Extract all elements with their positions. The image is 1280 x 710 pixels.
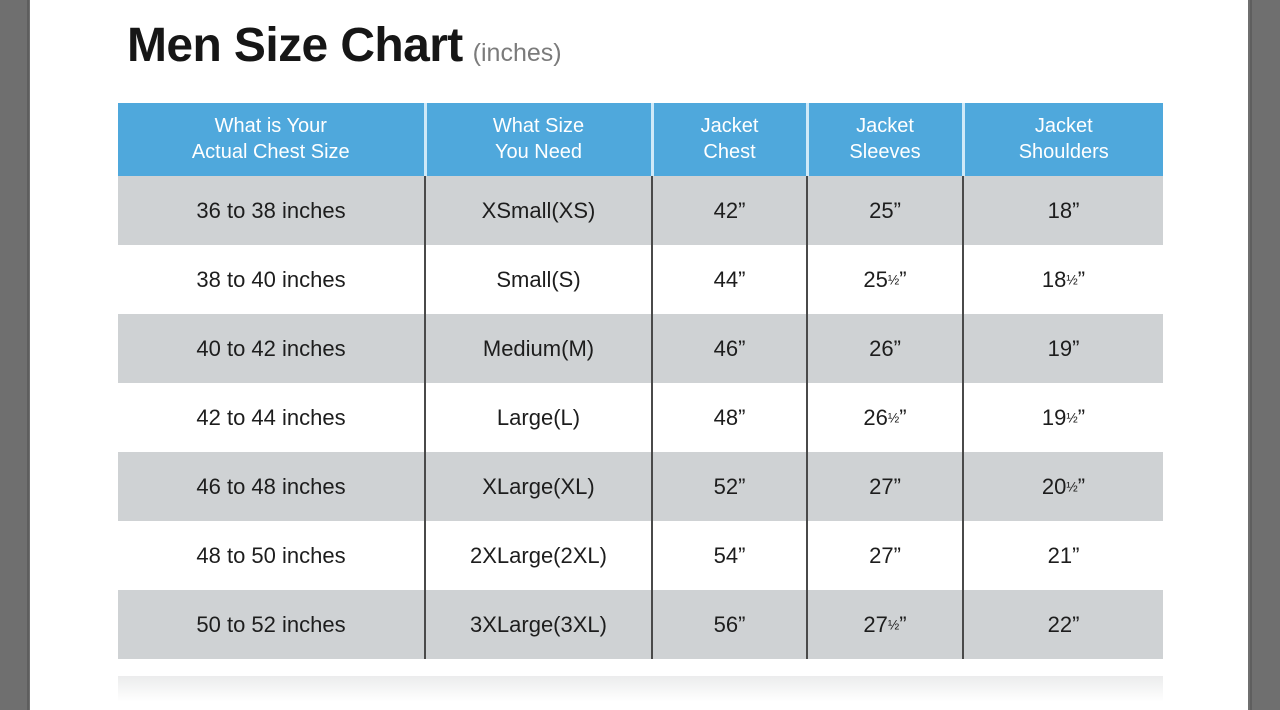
table-cell-r6-c0: 50 to 52 inches [118, 590, 425, 659]
table-cell-r5-c2: 54” [652, 521, 807, 590]
table-cell-r0-c4: 18” [963, 176, 1163, 245]
inch-mark: ” [738, 267, 745, 292]
inch-mark: ” [738, 474, 745, 499]
inch-mark: ” [738, 543, 745, 568]
page-title: Men Size Chart (inches) [127, 22, 562, 70]
inch-mark: ” [1072, 543, 1079, 568]
column-header-4: JacketShoulders [963, 103, 1163, 176]
fraction-half: ½ [888, 272, 899, 287]
column-header-line2: You Need [433, 140, 645, 166]
column-header-line2: Actual Chest Size [124, 140, 418, 166]
fraction-half: ½ [888, 410, 899, 425]
table-cell-r4-c1: XLarge(XL) [425, 452, 652, 521]
table-cell-r2-c2: 46” [652, 314, 807, 383]
table-cell-r0-c1: XSmall(XS) [425, 176, 652, 245]
column-header-2: JacketChest [652, 103, 807, 176]
header-row: What is YourActual Chest SizeWhat SizeYo… [118, 103, 1163, 176]
table-cell-r1-c1: Small(S) [425, 245, 652, 314]
column-header-line2: Chest [660, 140, 800, 166]
table-row: 38 to 40 inchesSmall(S)44”25½”18½” [118, 245, 1163, 314]
letterbox-right-seam [1250, 0, 1252, 710]
table-row: 36 to 38 inchesXSmall(XS)42”25”18” [118, 176, 1163, 245]
column-header-1: What SizeYou Need [425, 103, 652, 176]
table-cell-r0-c0: 36 to 38 inches [118, 176, 425, 245]
table-cell-r1-c4: 18½” [963, 245, 1163, 314]
slide-content: Men Size Chart (inches) What is YourActu… [30, 0, 1248, 710]
table-cell-r6-c4: 22” [963, 590, 1163, 659]
table-cell-r1-c3: 25½” [807, 245, 963, 314]
inch-mark: ” [738, 198, 745, 223]
inch-mark: ” [1072, 198, 1079, 223]
table-cell-r0-c3: 25” [807, 176, 963, 245]
inch-mark: ” [1072, 612, 1079, 637]
table-body: 36 to 38 inchesXSmall(XS)42”25”18”38 to … [118, 176, 1163, 659]
fraction-half: ½ [1066, 479, 1077, 494]
size-chart-table: What is YourActual Chest SizeWhat SizeYo… [118, 103, 1163, 659]
table-row: 48 to 50 inches2XLarge(2XL)54”27”21” [118, 521, 1163, 590]
column-header-line2: Sleeves [815, 140, 956, 166]
table-shadow-artifact [118, 676, 1163, 702]
column-header-line1: Jacket [660, 114, 800, 140]
fraction-half: ½ [1066, 410, 1077, 425]
table-cell-r4-c2: 52” [652, 452, 807, 521]
inch-mark: ” [894, 543, 901, 568]
inch-mark: ” [738, 612, 745, 637]
column-header-3: JacketSleeves [807, 103, 963, 176]
table-cell-r5-c3: 27” [807, 521, 963, 590]
table-header: What is YourActual Chest SizeWhat SizeYo… [118, 103, 1163, 176]
letterbox-left [0, 0, 30, 710]
table-cell-r3-c1: Large(L) [425, 383, 652, 452]
table-cell-r3-c4: 19½” [963, 383, 1163, 452]
table-cell-r3-c3: 26½” [807, 383, 963, 452]
inch-mark: ” [894, 336, 901, 361]
table-cell-r5-c0: 48 to 50 inches [118, 521, 425, 590]
table-cell-r5-c4: 21” [963, 521, 1163, 590]
table-cell-r3-c2: 48” [652, 383, 807, 452]
table-cell-r6-c2: 56” [652, 590, 807, 659]
inch-mark: ” [1078, 267, 1085, 292]
column-header-line1: Jacket [815, 114, 956, 140]
table-cell-r4-c3: 27” [807, 452, 963, 521]
table-cell-r4-c4: 20½” [963, 452, 1163, 521]
table-cell-r2-c1: Medium(M) [425, 314, 652, 383]
column-header-line1: Jacket [971, 114, 1158, 140]
table-cell-r2-c3: 26” [807, 314, 963, 383]
inch-mark: ” [899, 405, 906, 430]
table-cell-r1-c2: 44” [652, 245, 807, 314]
table-cell-r2-c0: 40 to 42 inches [118, 314, 425, 383]
inch-mark: ” [894, 198, 901, 223]
table-cell-r1-c0: 38 to 40 inches [118, 245, 425, 314]
table-cell-r2-c4: 19” [963, 314, 1163, 383]
inch-mark: ” [738, 405, 745, 430]
page-title-main: Men Size Chart [127, 22, 463, 70]
table-row: 46 to 48 inchesXLarge(XL)52”27”20½” [118, 452, 1163, 521]
column-header-line1: What is Your [124, 114, 418, 140]
slide-canvas: Men Size Chart (inches) What is YourActu… [0, 0, 1280, 710]
letterbox-left-seam [27, 0, 29, 710]
table-row: 40 to 42 inchesMedium(M)46”26”19” [118, 314, 1163, 383]
table-cell-r6-c3: 27½” [807, 590, 963, 659]
table-cell-r6-c1: 3XLarge(3XL) [425, 590, 652, 659]
table-cell-r5-c1: 2XLarge(2XL) [425, 521, 652, 590]
table-cell-r4-c0: 46 to 48 inches [118, 452, 425, 521]
letterbox-right [1248, 0, 1280, 710]
column-header-0: What is YourActual Chest Size [118, 103, 425, 176]
inch-mark: ” [894, 474, 901, 499]
table-row: 42 to 44 inchesLarge(L)48”26½”19½” [118, 383, 1163, 452]
table-cell-r0-c2: 42” [652, 176, 807, 245]
inch-mark: ” [738, 336, 745, 361]
table-cell-r3-c0: 42 to 44 inches [118, 383, 425, 452]
inch-mark: ” [1072, 336, 1079, 361]
inch-mark: ” [1078, 474, 1085, 499]
column-header-line1: What Size [433, 114, 645, 140]
page-title-unit: (inches) [473, 41, 562, 66]
fraction-half: ½ [888, 617, 899, 632]
inch-mark: ” [1078, 405, 1085, 430]
column-header-line2: Shoulders [971, 140, 1158, 166]
inch-mark: ” [899, 612, 906, 637]
table-row: 50 to 52 inches3XLarge(3XL)56”27½”22” [118, 590, 1163, 659]
fraction-half: ½ [1066, 272, 1077, 287]
inch-mark: ” [899, 267, 906, 292]
